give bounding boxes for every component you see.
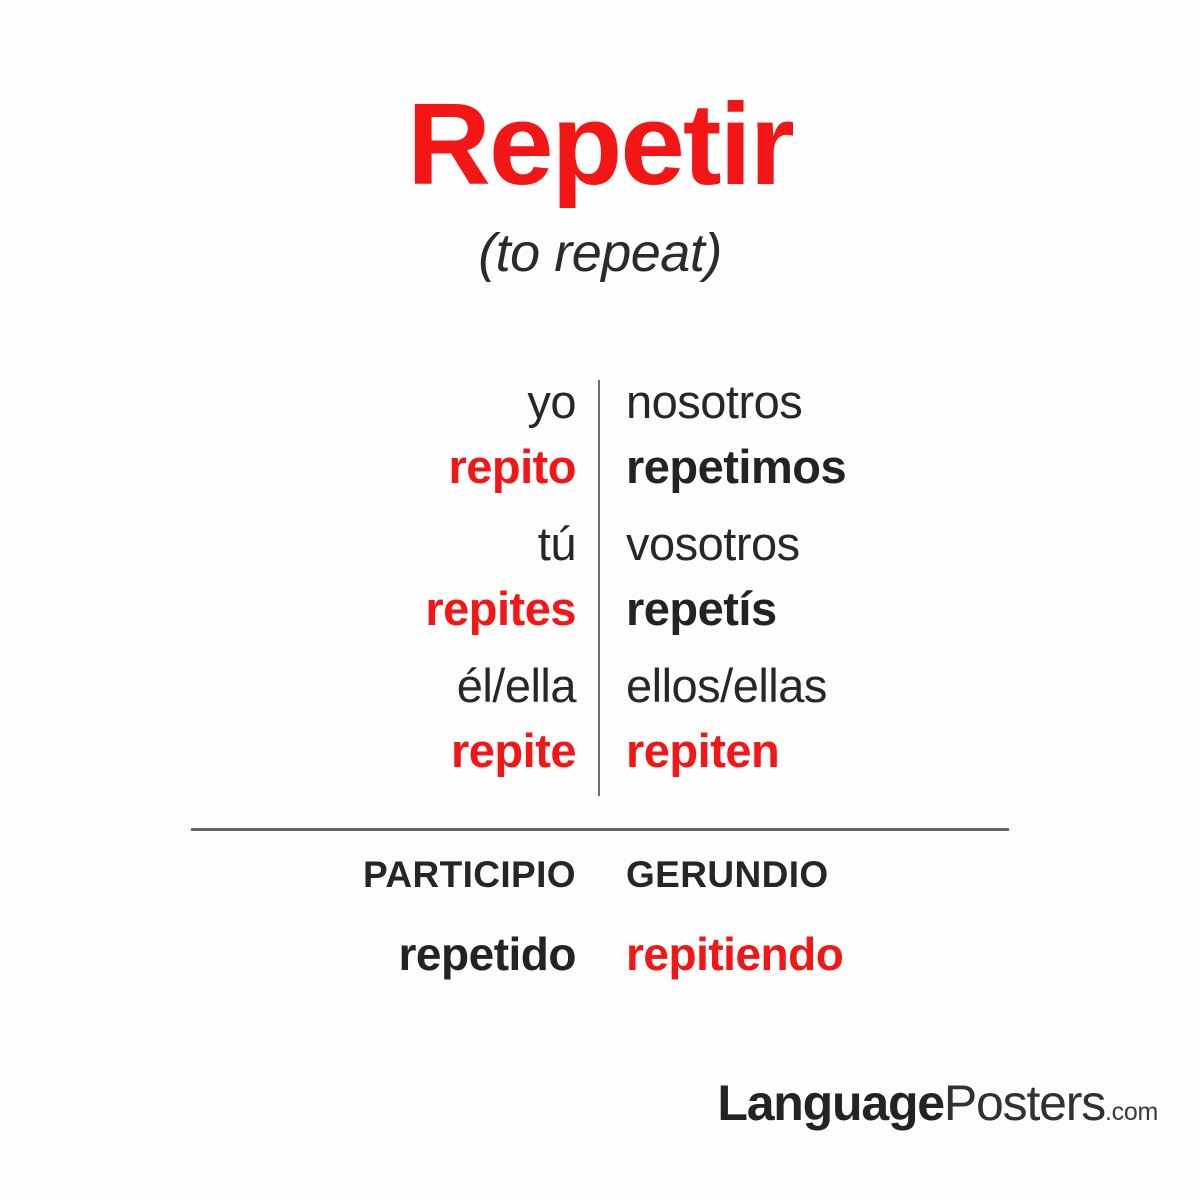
verb-conjugation-poster: Repetir (to repeat) yo repito nosotros r… <box>0 0 1200 1200</box>
conjugation-cell-plural-1: nosotros repetimos <box>600 378 1200 514</box>
conjugated-form: repetimos <box>626 443 1200 490</box>
conjugation-row: yo repito nosotros repetimos <box>0 378 1200 514</box>
conjugation-table: yo repito nosotros repetimos tú repites … <box>0 374 1200 798</box>
brand-name-secondary: Posters <box>944 1075 1105 1131</box>
gerundio-label: GERUNDIO <box>626 856 1146 893</box>
pronoun-label: nosotros <box>626 378 1200 425</box>
nonfinite-forms-section: PARTICIPIO repetido GERUNDIO repitiendo <box>0 856 1200 1006</box>
conjugated-form: repiten <box>626 727 1200 774</box>
gerundio-column: GERUNDIO repitiendo <box>626 856 1146 1006</box>
verb-title: Repetir <box>0 86 1200 202</box>
pronoun-label: vosotros <box>626 520 1200 567</box>
brand-name-primary: Language <box>717 1075 944 1131</box>
conjugated-form: repetís <box>626 585 1200 632</box>
poster-header: Repetir (to repeat) <box>0 86 1200 280</box>
participio-label: PARTICIPIO <box>0 856 576 893</box>
section-divider <box>191 828 1009 831</box>
conjugation-row: tú repites vosotros repetís <box>0 520 1200 656</box>
pronoun-label: tú <box>0 520 576 567</box>
brand-tld: .com <box>1105 1098 1158 1126</box>
verb-translation: (to repeat) <box>0 226 1200 280</box>
participio-column: PARTICIPIO repetido <box>0 856 576 1006</box>
pronoun-label: ellos/ellas <box>626 662 1200 709</box>
conjugation-cell-singular-3: él/ella repite <box>0 662 600 798</box>
conjugation-cell-singular-1: yo repito <box>0 378 600 514</box>
gerundio-value: repitiendo <box>626 931 1146 977</box>
conjugated-form: repite <box>0 727 576 774</box>
conjugation-row: él/ella repite ellos/ellas repiten <box>0 662 1200 798</box>
brand-logo: LanguagePosters.com <box>0 1074 1200 1132</box>
conjugated-form: repites <box>0 585 576 632</box>
conjugation-cell-plural-2: vosotros repetís <box>600 520 1200 656</box>
participio-value: repetido <box>0 931 576 977</box>
pronoun-label: yo <box>0 378 576 425</box>
conjugated-form: repito <box>0 443 576 490</box>
conjugation-cell-singular-2: tú repites <box>0 520 600 656</box>
conjugation-cell-plural-3: ellos/ellas repiten <box>600 662 1200 798</box>
pronoun-label: él/ella <box>0 662 576 709</box>
